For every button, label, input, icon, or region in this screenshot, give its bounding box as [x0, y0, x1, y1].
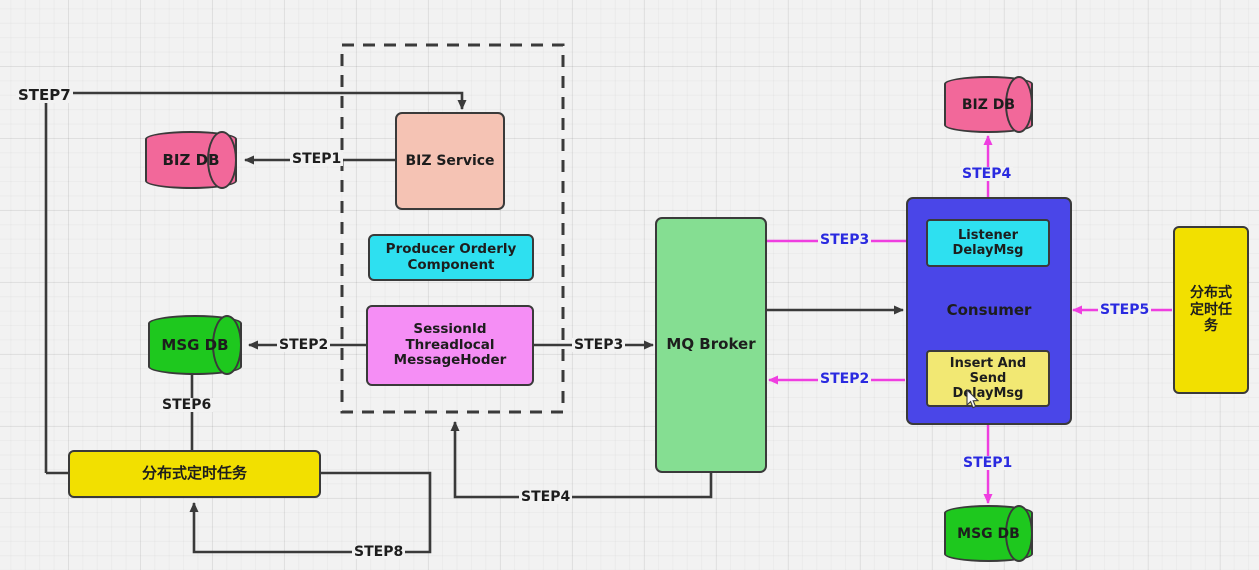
edge-label-step3-left: STEP3	[572, 338, 625, 352]
node-label: BIZ DB	[145, 131, 263, 189]
node-label-line: 分布式	[1190, 285, 1232, 302]
edge-label-step5-right: STEP5	[1098, 303, 1151, 317]
node-sessionid-threadlocal-messageholder[interactable]: SessionId Threadlocal MessageHoder	[366, 305, 534, 386]
edge-label-step7: STEP7	[16, 88, 73, 103]
edge-label-step4-left: STEP4	[519, 490, 572, 504]
node-label: BIZ DB	[944, 76, 1057, 133]
node-producer-orderly-component[interactable]: Producer Orderly Component	[368, 234, 534, 281]
node-mq-broker[interactable]: MQ Broker	[655, 217, 767, 473]
node-listener-delaymsg[interactable]: Listener DelayMsg	[926, 219, 1050, 267]
node-label-line: Send	[970, 371, 1007, 386]
edge-label-step3-right: STEP3	[818, 233, 871, 247]
node-biz-service[interactable]: BIZ Service	[395, 112, 505, 210]
edge-label-step1-right: STEP1	[961, 456, 1014, 470]
node-label: MSG DB	[148, 315, 266, 375]
node-label-line: 务	[1204, 318, 1218, 335]
node-label-line: MessageHoder	[394, 353, 507, 369]
edge-label-step1-left: STEP1	[290, 152, 343, 166]
node-label-line: DelayMsg	[953, 386, 1024, 401]
node-label-line: 定时任	[1190, 302, 1232, 319]
node-label: MSG DB	[944, 505, 1055, 562]
node-label-line: Threadlocal	[405, 338, 494, 354]
node-biz-db-right[interactable]: BIZ DB	[944, 76, 1033, 133]
node-msg-db-left[interactable]: MSG DB	[148, 315, 242, 375]
node-label-line: Producer Orderly	[386, 242, 517, 258]
diagram-canvas[interactable]: BIZ DB MSG DB BIZ Service Producer Order…	[0, 0, 1259, 570]
edge-label-step2-left: STEP2	[277, 338, 330, 352]
edge-label-step2-right: STEP2	[818, 372, 871, 386]
node-insert-and-send-delaymsg[interactable]: Insert And Send DelayMsg	[926, 350, 1050, 407]
edge-label-step4-right: STEP4	[960, 167, 1013, 181]
edge-label-step8: STEP8	[352, 545, 405, 559]
node-label-line: Component	[407, 258, 494, 274]
node-label-line: SessionId	[413, 322, 486, 338]
node-label-line: Listener	[958, 228, 1018, 243]
node-label-line: Insert And	[950, 356, 1026, 371]
node-biz-db-left[interactable]: BIZ DB	[145, 131, 237, 189]
node-msg-db-right[interactable]: MSG DB	[944, 505, 1033, 562]
edge-label-step6: STEP6	[160, 398, 213, 412]
node-label-line: DelayMsg	[953, 243, 1024, 258]
node-scheduler-right[interactable]: 分布式 定时任 务	[1173, 226, 1249, 394]
node-scheduler-left[interactable]: 分布式定时任务	[68, 450, 321, 498]
